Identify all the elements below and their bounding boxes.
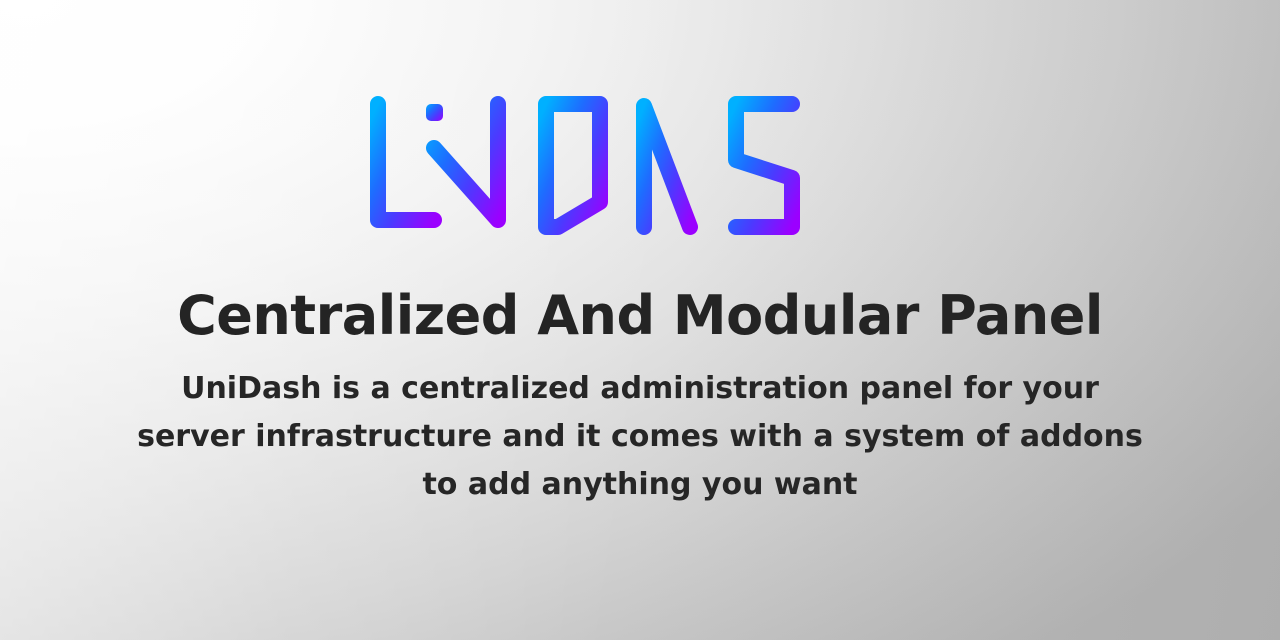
- logo-letter-d: [546, 104, 600, 227]
- logo-letter-a: [644, 106, 690, 227]
- page-subtitle: UniDash is a centralized administration …: [125, 365, 1155, 509]
- logo-letter-i-dot: [426, 104, 443, 121]
- logo-letter-s: [736, 104, 792, 227]
- unidash-logo: [368, 96, 912, 236]
- logo-letter-n: [434, 104, 498, 220]
- page-title: Centralized And Modular Panel: [177, 288, 1103, 345]
- logo-letter-u: [378, 104, 434, 220]
- hero-section: Centralized And Modular Panel UniDash is…: [0, 0, 1280, 640]
